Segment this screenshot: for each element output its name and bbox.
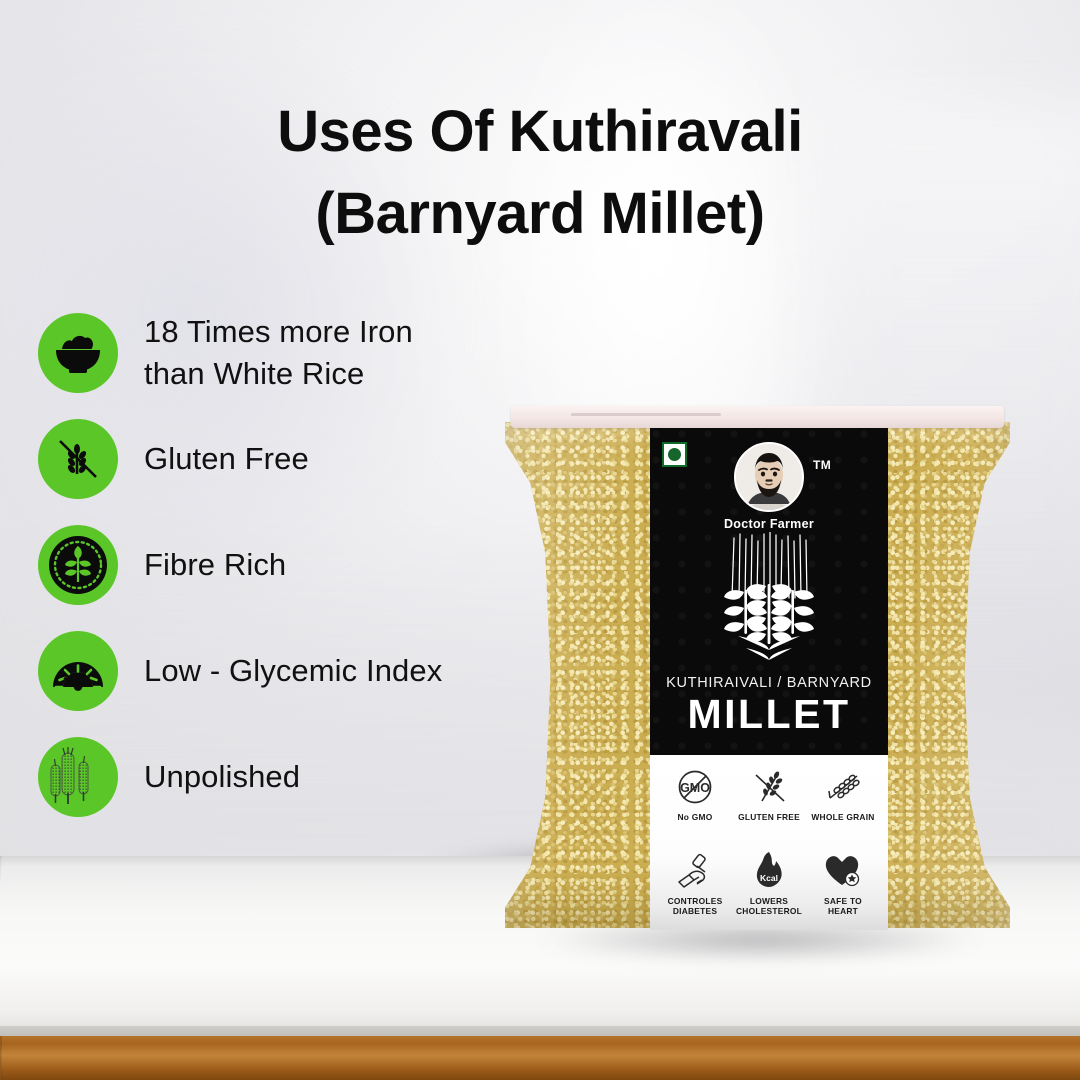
rice-bowl-icon [38, 313, 118, 393]
cert-whole-grain: WHOLE GRAIN [806, 765, 880, 843]
pouch-top-seal [511, 406, 1004, 428]
trademark-symbol: TM [813, 458, 831, 472]
benefits-list: 18 Times more Iron than White Rice [38, 300, 558, 830]
benefit-label: Unpolished [144, 756, 300, 798]
cert-safe-to-heart: SAFE TO HEART [806, 849, 880, 927]
cert-label: WHOLE GRAIN [811, 812, 874, 822]
cert-label: No GMO [678, 812, 713, 822]
cert-no-gmo: GMO No GMO [658, 765, 732, 843]
gluten-free-icon [38, 419, 118, 499]
brand-name: Doctor Farmer [650, 517, 888, 531]
cert-gluten-free: GLUTEN FREE [732, 765, 806, 843]
whole-grain-icon [822, 765, 864, 809]
no-gmo-icon: GMO [676, 765, 714, 809]
benefit-label: Fibre Rich [144, 544, 286, 586]
glucose-meter-icon [673, 849, 717, 893]
benefit-item-gluten-free: Gluten Free [38, 406, 558, 512]
heart-icon [823, 849, 863, 893]
benefit-label: 18 Times more Iron than White Rice [144, 311, 413, 394]
cert-label: GLUTEN FREE [738, 812, 800, 822]
label-white-panel: GMO No GMO [650, 755, 888, 930]
title-line-2: (Barnyard Millet) [0, 173, 1080, 255]
gluten-free-icon [748, 765, 790, 809]
fibre-leaf-icon [38, 525, 118, 605]
brand-block: TM Doctor Farmer [650, 442, 888, 531]
cert-controls-diabetes: CONTROLES DIABETES [658, 849, 732, 927]
pouch-body: TM Doctor Farmer [505, 400, 1010, 945]
product-infographic: Uses Of Kuthiravali (Barnyard Millet) 18… [0, 0, 1080, 1080]
title-line-1: Uses Of Kuthiravali [277, 99, 803, 164]
millet-stalks-icon [38, 737, 118, 817]
certification-badges: GMO No GMO [658, 765, 880, 927]
product-subtitle: KUTHIRAIVALI / BARNYARD [650, 675, 888, 691]
cert-label: CONTROLES DIABETES [668, 896, 723, 917]
label-black-panel: TM Doctor Farmer [650, 428, 888, 755]
benefit-item-unpolished: Unpolished [38, 724, 558, 830]
benefit-item-iron: 18 Times more Iron than White Rice [38, 300, 558, 406]
benefit-label: Low - Glycemic Index [144, 650, 442, 692]
cert-label: SAFE TO HEART [824, 896, 862, 917]
product-package[interactable]: TM Doctor Farmer [505, 400, 1010, 945]
cert-label: LOWERS CHOLESTEROL [736, 896, 802, 917]
benefit-label: Gluten Free [144, 438, 309, 480]
cert-lowers-cholesterol: Kcal LOWERS CHOLESTEROL [732, 849, 806, 927]
product-name: MILLET [650, 694, 888, 735]
flame-kcal-label: Kcal [760, 873, 778, 883]
page-title: Uses Of Kuthiravali (Barnyard Millet) [0, 91, 1080, 256]
wheat-sheaf-icon [694, 532, 844, 687]
glycemic-gauge-icon [38, 631, 118, 711]
benefit-item-fibre: Fibre Rich [38, 512, 558, 618]
farmer-portrait-icon [734, 442, 804, 512]
benefit-item-glycemic-index: Low - Glycemic Index [38, 618, 558, 724]
flame-kcal-icon: Kcal [752, 849, 786, 893]
wood-trim [0, 1036, 1080, 1080]
